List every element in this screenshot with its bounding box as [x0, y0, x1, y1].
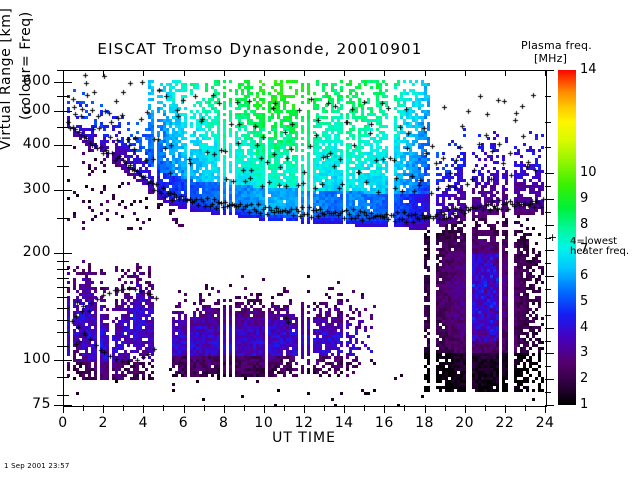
y-tick-label: 200 — [7, 244, 51, 260]
x-tick — [465, 405, 466, 413]
y-tick-major — [54, 111, 63, 112]
y-tick-label: 500 — [7, 102, 51, 118]
x-tick-top — [264, 70, 265, 76]
x-tick-label: 24 — [525, 415, 565, 431]
y-tick-label: 100 — [7, 351, 51, 367]
x-tick-label: 14 — [324, 415, 364, 431]
colorbar-tick-label: 8 — [580, 217, 588, 232]
x-tick-minor — [525, 405, 526, 411]
colorbar-tick-mark — [545, 70, 554, 71]
y-tick-major-inner — [63, 190, 72, 191]
x-tick-label: 0 — [43, 415, 83, 431]
x-tick-label: 20 — [445, 415, 485, 431]
page-title: EISCAT Tromso Dynasonde, 20010901 — [0, 40, 520, 58]
y-tick-minor-inner — [63, 308, 69, 309]
x-tick-top — [184, 70, 185, 76]
x-tick — [505, 405, 506, 413]
colorbar-tick-label: 10 — [580, 165, 597, 180]
y-tick-label: 75 — [7, 396, 51, 412]
colorbar-tick-mark — [545, 276, 554, 277]
colorbar-note-line2: heater freq. — [570, 247, 629, 257]
colorbar-tick-mark-minor — [545, 96, 551, 97]
x-tick-minor — [163, 405, 164, 411]
x-tick-minor — [204, 405, 205, 411]
colorbar-tick-label: 3 — [580, 345, 588, 360]
colorbar-tick-mark-minor — [545, 186, 551, 187]
x-tick-minor — [404, 405, 405, 411]
x-tick-label: 10 — [244, 415, 284, 431]
colorbar-tick-mark — [545, 225, 554, 226]
y-tick-minor-inner — [63, 278, 69, 279]
y-tick-major — [54, 145, 63, 146]
colorbar-tick-mark-minor — [545, 315, 551, 316]
peak-trace-overlay — [64, 71, 546, 406]
colorbar-tick-mark-minor — [545, 212, 551, 213]
y-tick-major-inner — [63, 145, 72, 146]
x-tick-label: 16 — [364, 415, 404, 431]
colorbar-tick-mark — [545, 173, 554, 174]
y-tick-major-inner — [63, 82, 72, 83]
x-tick-minor — [244, 405, 245, 411]
y-tick-minor-inner — [63, 127, 69, 128]
x-tick — [425, 405, 426, 413]
y-tick-minor-inner — [63, 346, 69, 347]
y-tick-major-inner — [63, 405, 72, 406]
x-tick-minor — [284, 405, 285, 411]
y-tick-major-inner — [63, 253, 72, 254]
x-tick-label: 2 — [83, 415, 123, 431]
colorbar-tick-label: 2 — [580, 371, 588, 386]
colorbar-tick-mark-minor — [545, 147, 551, 148]
colorbar-tick-mark — [545, 328, 554, 329]
y-tick-minor-inner — [63, 261, 69, 262]
y-tick-minor-inner — [63, 166, 69, 167]
x-tick-minor — [83, 405, 84, 411]
x-tick-top — [63, 70, 64, 76]
colorbar-tick-mark-minor — [545, 122, 551, 123]
ionogram-plot-page: EISCAT Tromso Dynasonde, 20010901 Virtua… — [0, 0, 640, 480]
x-tick — [545, 405, 546, 413]
y-tick-minor-inner — [63, 218, 69, 219]
colorbar-tick-mark-minor — [545, 366, 551, 367]
colorbar-tick-label: 14 — [580, 62, 597, 77]
x-tick-top — [304, 70, 305, 76]
colorbar-title-line1: Plasma freq. — [521, 39, 592, 52]
colorbar-tick-label: 4 — [580, 320, 588, 335]
y-tick-label: 300 — [7, 181, 51, 197]
x-tick-label: 22 — [485, 415, 525, 431]
x-tick-minor — [364, 405, 365, 411]
x-tick-minor — [485, 405, 486, 411]
y-tick-label: 400 — [7, 136, 51, 152]
colorbar-tick-mark — [545, 199, 554, 200]
plot-area — [63, 70, 547, 407]
x-tick-minor — [324, 405, 325, 411]
colorbar-tick-label: 1 — [580, 397, 588, 412]
x-tick-top — [384, 70, 385, 76]
x-tick-label: 8 — [204, 415, 244, 431]
y-tick-minor-inner — [63, 320, 69, 321]
colorbar-tick-label: 9 — [580, 191, 588, 206]
x-tick — [184, 405, 185, 413]
colorbar-tick-mark-minor — [545, 289, 551, 290]
x-tick — [344, 405, 345, 413]
x-tick-top — [425, 70, 426, 76]
y-tick-major-inner — [63, 360, 72, 361]
colorbar-marker-sample: + — [548, 232, 557, 243]
x-tick-top — [505, 70, 506, 76]
colorbar-tick-mark — [545, 353, 554, 354]
y-tick-minor-inner — [63, 96, 69, 97]
x-tick-label: 18 — [405, 415, 445, 431]
y-tick-major — [54, 360, 63, 361]
x-tick-top — [143, 70, 144, 76]
y-tick-major-inner — [63, 111, 72, 112]
x-tick-label: 4 — [123, 415, 163, 431]
y-tick-minor-inner — [63, 395, 69, 396]
y-tick-major — [54, 253, 63, 254]
y-tick-minor-inner — [63, 332, 69, 333]
colorbar-tick-mark-minor — [545, 341, 551, 342]
colorbar-tick-mark-minor — [545, 392, 551, 393]
x-tick — [264, 405, 265, 413]
x-tick — [103, 405, 104, 413]
x-tick-minor — [123, 405, 124, 411]
x-tick-minor — [445, 405, 446, 411]
y-tick-major — [54, 405, 63, 406]
x-tick — [63, 405, 64, 413]
colorbar-tick-mark — [545, 302, 554, 303]
y-tick-minor-inner — [63, 269, 69, 270]
x-tick-top — [465, 70, 466, 76]
footer-timestamp: 1 Sep 2001 23:57 — [4, 462, 70, 470]
x-tick — [384, 405, 385, 413]
colorbar-tick-mark — [545, 405, 554, 406]
colorbar-tick-mark — [545, 379, 554, 380]
y-tick-minor-inner — [63, 287, 69, 288]
colorbar-title-line2: [MHz] — [534, 52, 567, 65]
x-tick — [304, 405, 305, 413]
x-tick — [143, 405, 144, 413]
x-tick-label: 6 — [164, 415, 204, 431]
colorbar-tick-mark-minor — [545, 263, 551, 264]
y-tick-major — [54, 82, 63, 83]
y-tick-major — [54, 190, 63, 191]
colorbar-note: 4=lowest heater freq. — [570, 237, 629, 257]
colorbar-tick-label: 5 — [580, 294, 588, 309]
x-tick-top — [224, 70, 225, 76]
y-tick-minor-inner — [63, 297, 69, 298]
x-tick-label: 12 — [284, 415, 324, 431]
colorbar-tick-mark — [545, 250, 554, 251]
y-tick-label: 600 — [7, 73, 51, 89]
x-axis-title: UT TIME — [63, 430, 545, 446]
x-tick-top — [103, 70, 104, 76]
colorbar-tick-label: 6 — [580, 268, 588, 283]
x-tick-top — [344, 70, 345, 76]
y-tick-minor-inner — [63, 377, 69, 378]
x-tick — [224, 405, 225, 413]
